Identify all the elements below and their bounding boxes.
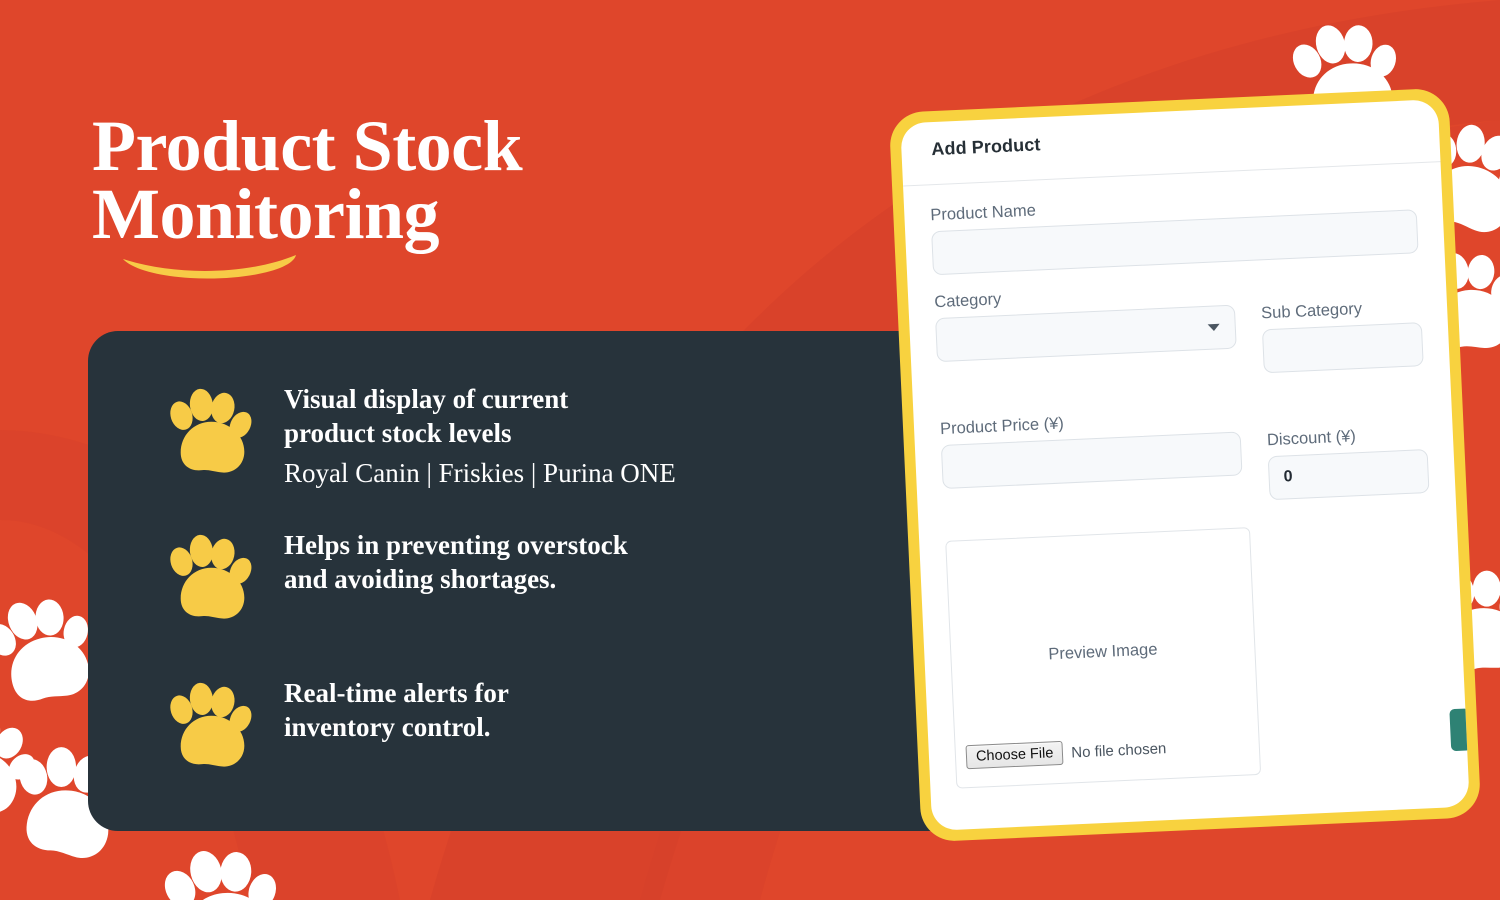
list-item-text: Helps in preventing overstock and avoidi…	[284, 525, 628, 597]
row-category: Category Sub Category	[934, 271, 1425, 406]
page-headline: Product Stock Monitoring	[92, 112, 712, 284]
list-item: Visual display of current product stock …	[160, 379, 960, 491]
no-file-chosen-label: No file chosen	[1071, 740, 1167, 761]
field-discount: Discount (¥) 0	[1265, 398, 1430, 518]
feature-title-line-2: and avoiding shortages.	[284, 563, 628, 597]
list-item-text: Visual display of current product stock …	[284, 379, 676, 491]
preview-image-placeholder: Preview Image	[951, 636, 1255, 669]
field-product-price: Product Price (¥)	[940, 406, 1245, 532]
feature-title-line-1: Visual display of current	[284, 383, 676, 417]
discount-label: Discount (¥)	[1267, 424, 1428, 450]
headline-line-1: Product Stock	[92, 112, 712, 180]
headline-line-2: Monitoring	[92, 180, 712, 248]
brush-underline-icon	[120, 253, 712, 284]
feature-title-line-1: Helps in preventing overstock	[284, 529, 628, 563]
add-product-form: Add Product Product Name Category Sub Ca…	[900, 99, 1470, 831]
feature-list: Visual display of current product stock …	[160, 379, 960, 771]
sub-category-input[interactable]	[1262, 322, 1424, 373]
add-product-panel: Add Product Product Name Category Sub Ca…	[889, 88, 1482, 843]
row-price: Product Price (¥) Discount (¥) 0	[940, 398, 1431, 533]
choose-file-button[interactable]: Choose File	[965, 741, 1063, 769]
field-category: Category	[934, 280, 1239, 406]
field-product-name: Product Name	[930, 184, 1419, 275]
feature-title-line-2: inventory control.	[284, 711, 509, 745]
list-item-text: Real-time alerts for inventory control.	[284, 673, 509, 745]
chevron-down-icon[interactable]	[1208, 324, 1220, 332]
list-item: Real-time alerts for inventory control.	[160, 673, 960, 771]
feature-title-line-1: Real-time alerts for	[284, 677, 509, 711]
file-input-row: Choose File No file chosen	[965, 736, 1166, 769]
discount-input[interactable]: 0	[1268, 449, 1430, 500]
submit-button[interactable]	[1449, 708, 1469, 751]
feature-subtitle: Royal Canin | Friskies | Purina ONE	[284, 455, 676, 491]
list-item: Helps in preventing overstock and avoidi…	[160, 525, 960, 623]
paw-icon	[160, 525, 284, 623]
image-upload-box: Preview Image Choose File No file chosen	[945, 527, 1261, 789]
paw-icon	[160, 379, 284, 477]
page-title: Add Product	[931, 134, 1041, 160]
sub-category-label: Sub Category	[1261, 297, 1422, 323]
product-price-input[interactable]	[941, 431, 1243, 489]
category-select[interactable]	[935, 305, 1237, 363]
feature-title-line-2: product stock levels	[284, 417, 676, 451]
paw-icon	[160, 673, 284, 771]
field-sub-category: Sub Category	[1260, 271, 1425, 391]
form-body: Product Name Category Sub Category	[903, 161, 1470, 831]
